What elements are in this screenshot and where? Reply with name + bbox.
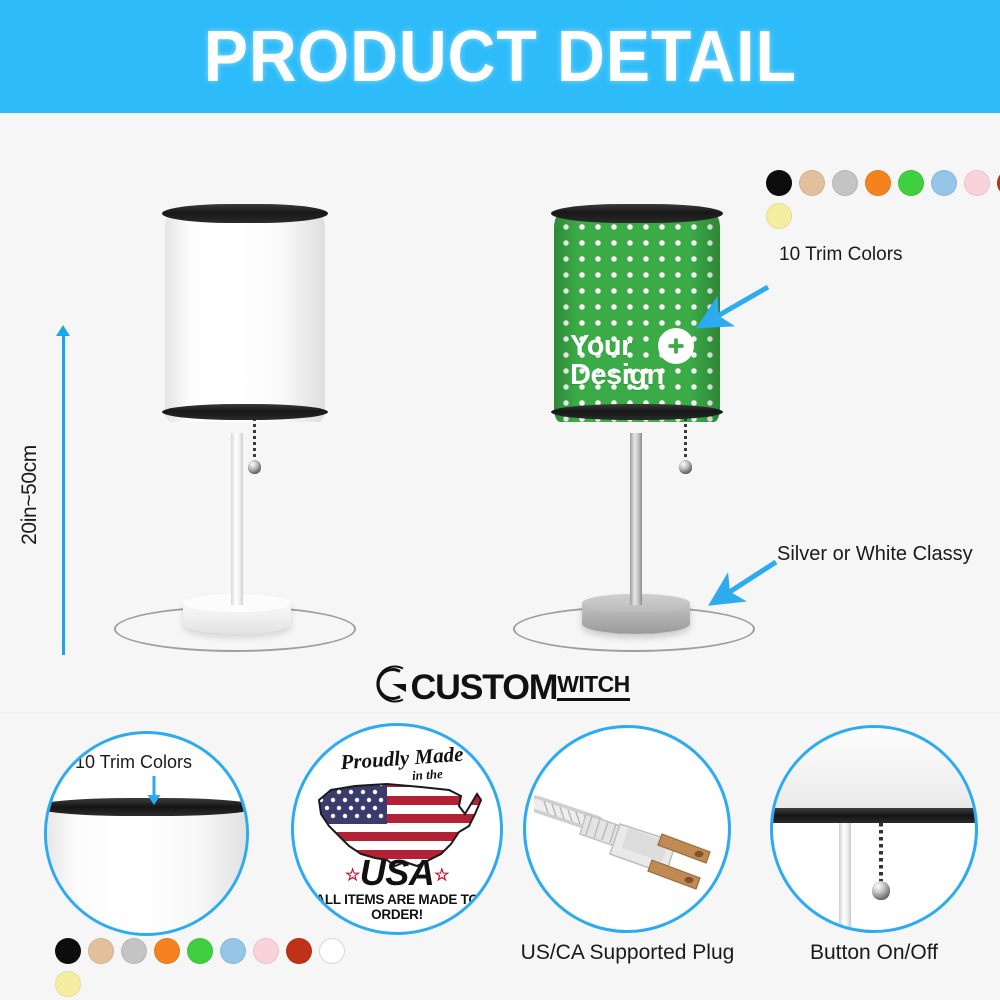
height-dimension-label: 20in~50cm — [18, 420, 42, 570]
panel-trim-colors: 10 Trim Colors — [44, 731, 249, 936]
logo-underline — [557, 698, 629, 701]
product-stage: 7in~18cm 20in~50cm — [0, 113, 1000, 713]
brand-logo: CUSTOM WITCH — [370, 664, 629, 704]
pull-chain-ball-closeup[interactable] — [872, 881, 890, 900]
logo-text-custom: CUSTOM — [411, 671, 558, 704]
trim-color-swatch-pink[interactable] — [964, 170, 990, 196]
usa-badge: Proudly Made in the — [294, 726, 500, 932]
logo-text-witch: WITCH — [557, 674, 629, 696]
panel-switch-caption: Button On/Off — [768, 941, 980, 965]
panel-switch — [770, 725, 978, 933]
lampshade-trim-bottom — [162, 404, 328, 420]
feature-panels: 10 Trim Colors Proudly Made in the — [0, 713, 1000, 1000]
star-icon-left: ☆ — [345, 865, 360, 884]
trim-color-swatch-row-2 — [766, 203, 792, 229]
trim-colors-label-top: 10 Trim Colors — [779, 244, 903, 266]
lampshade-trim-closeup — [770, 808, 978, 823]
pull-chain-ball[interactable] — [679, 460, 692, 474]
down-arrow-icon — [144, 776, 164, 806]
trim-color-swatch-row-2-bottom — [55, 971, 81, 997]
base-finish-label: Silver or White Classy — [777, 543, 973, 566]
pull-chain[interactable] — [684, 418, 687, 463]
lampshade-bottom-closeup — [770, 725, 978, 810]
star-icon-right: ☆ — [434, 865, 449, 884]
trim-color-swatch-yellow[interactable] — [55, 971, 81, 997]
lampshade-white — [165, 206, 325, 414]
usa-badge-note: ALL ITEMS ARE MADE TO ORDER! — [294, 892, 500, 922]
trim-color-swatch-black[interactable] — [766, 170, 792, 196]
panel-made-in-usa: Proudly Made in the — [291, 723, 503, 935]
logo-witch-group: WITCH — [557, 674, 629, 701]
panel-plug — [523, 725, 731, 933]
trim-color-swatch-gray[interactable] — [832, 170, 858, 196]
trim-color-swatch-orange[interactable] — [865, 170, 891, 196]
your-design-text: Your Design — [570, 332, 702, 390]
trim-color-swatch-row-1 — [766, 170, 1000, 196]
trim-color-swatch-gray[interactable] — [121, 938, 147, 964]
trim-color-swatch-orange[interactable] — [154, 938, 180, 964]
trim-color-swatch-dark-red[interactable] — [286, 938, 312, 964]
usa-badge-country: ☆USA☆ — [294, 852, 500, 894]
lamp-pole-silver — [630, 433, 642, 605]
page-title: PRODUCT DETAIL — [203, 16, 796, 98]
lamp-pole-closeup — [839, 823, 851, 933]
trim-color-swatch-tan[interactable] — [88, 938, 114, 964]
lampshade-trim-top — [551, 204, 723, 223]
lampshade-trim-bottom — [551, 404, 723, 420]
trim-color-swatch-light-blue[interactable] — [931, 170, 957, 196]
lampshade-closeup — [44, 809, 249, 936]
trim-color-swatch-white[interactable] — [319, 938, 345, 964]
lamp-pole-white — [231, 433, 243, 605]
design-line-2: Design — [570, 361, 702, 390]
trim-pointer-arrow — [688, 281, 774, 337]
base-finish-pointer-arrow — [700, 556, 782, 616]
trim-color-swatch-black[interactable] — [55, 938, 81, 964]
trim-color-swatch-tan[interactable] — [799, 170, 825, 196]
trim-color-swatch-pink[interactable] — [253, 938, 279, 964]
trim-color-swatch-row-1-bottom — [55, 938, 345, 964]
pull-chain-closeup[interactable] — [879, 823, 883, 885]
c-circle-icon — [370, 664, 412, 704]
panel-plug-caption: US/CA Supported Plug — [505, 941, 750, 965]
brand-logo-bar: CUSTOM WITCH — [0, 655, 1000, 713]
trim-color-swatch-light-blue[interactable] — [220, 938, 246, 964]
lampshade-trim-top — [162, 204, 328, 223]
trim-color-swatch-green[interactable] — [187, 938, 213, 964]
page-header: PRODUCT DETAIL — [0, 0, 1000, 113]
pull-chain[interactable] — [253, 418, 256, 463]
trim-color-swatch-green[interactable] — [898, 170, 924, 196]
panel-trim-colors-label: 10 Trim Colors — [75, 752, 192, 773]
lampshade-surface — [165, 214, 325, 422]
pull-chain-ball[interactable] — [248, 460, 261, 474]
trim-color-swatch-yellow[interactable] — [766, 203, 792, 229]
power-plug-icon — [534, 762, 730, 902]
